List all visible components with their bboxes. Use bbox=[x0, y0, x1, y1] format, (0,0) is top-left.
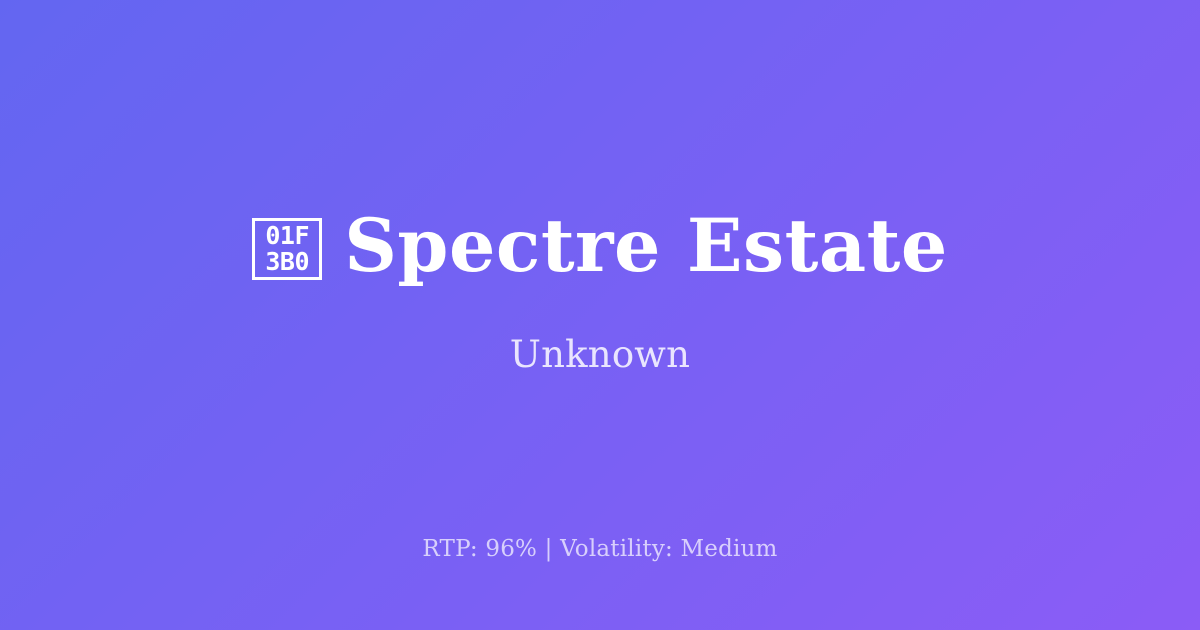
title-row: 01F 3B0 Spectre Estate bbox=[252, 208, 948, 285]
og-card: 01F 3B0 Spectre Estate Unknown RTP: 96% … bbox=[0, 0, 1200, 630]
slot-machine-icon: 01F 3B0 bbox=[252, 218, 322, 280]
page-title: Spectre Estate bbox=[344, 208, 948, 285]
page-subtitle: Unknown bbox=[510, 333, 690, 377]
stats-footer: RTP: 96% | Volatility: Medium bbox=[0, 536, 1200, 564]
tofu-codepoint-bottom: 3B0 bbox=[265, 249, 309, 275]
tofu-codepoint-top: 01F bbox=[265, 223, 309, 249]
